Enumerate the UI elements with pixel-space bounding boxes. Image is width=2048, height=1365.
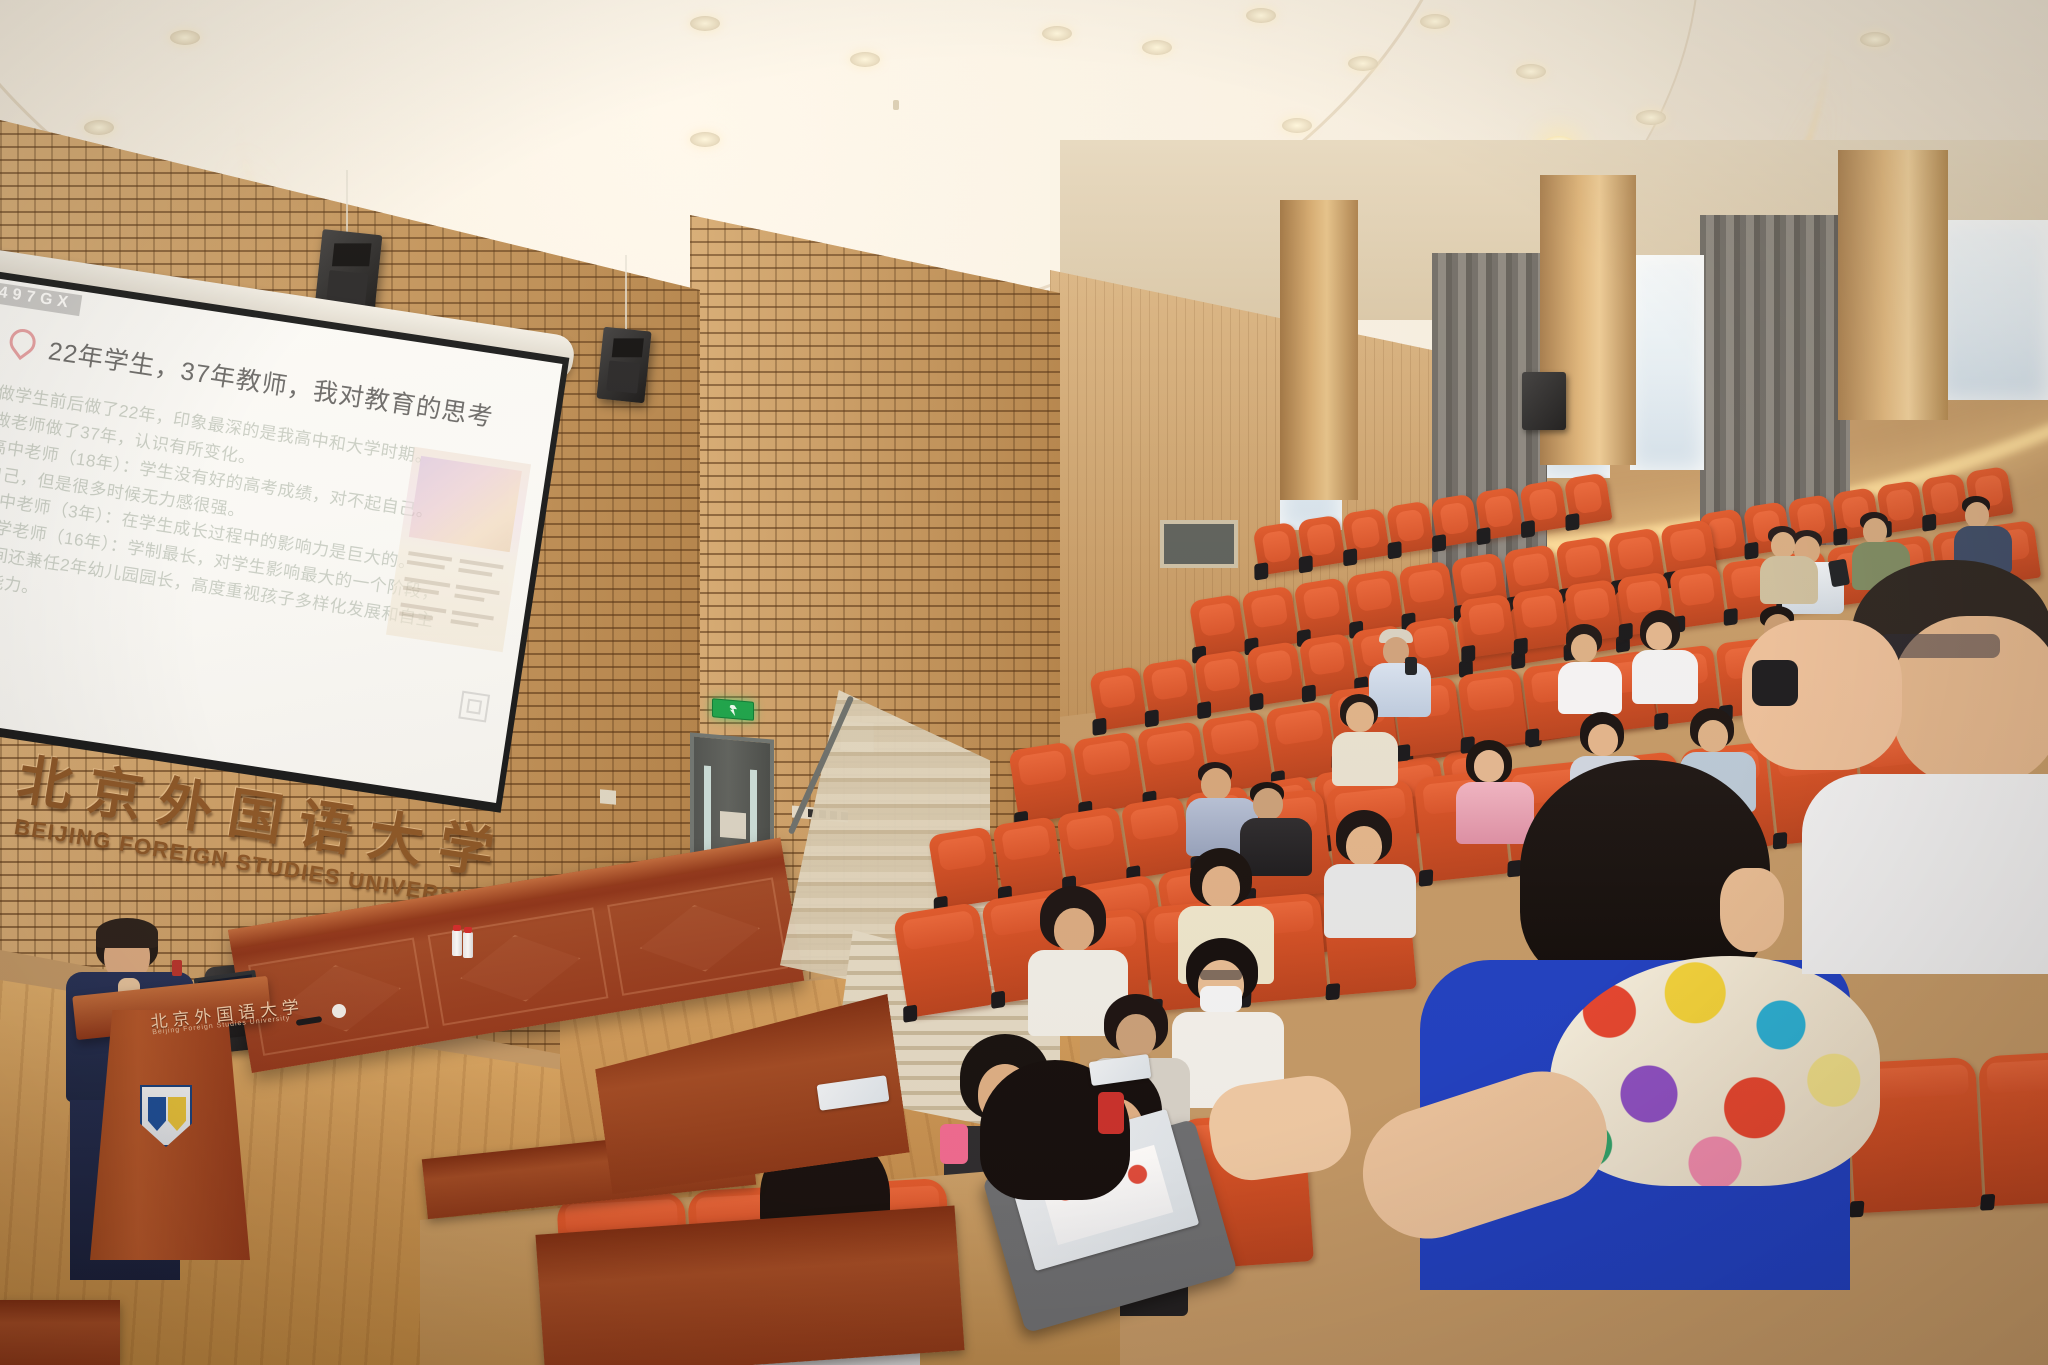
attendee-head	[1201, 768, 1231, 800]
seat[interactable]	[1978, 1050, 2048, 1206]
window	[1630, 255, 1704, 470]
red-cup[interactable]	[1098, 1092, 1124, 1134]
slide-watermark-icon	[458, 691, 490, 723]
seat[interactable]	[1341, 508, 1390, 562]
column	[1838, 150, 1948, 420]
seat[interactable]	[1194, 649, 1252, 714]
slide-photo	[409, 456, 522, 552]
seat[interactable]	[1459, 594, 1517, 658]
eyeglasses-icon	[1200, 970, 1242, 980]
location-pin-icon	[4, 324, 40, 360]
lecture-hall-photo: 497GX 22年学生，37年教师，我对教育的思考 做学生前后做了22年，印象最…	[0, 0, 2048, 1365]
downlight	[1516, 64, 1546, 79]
front-desk-lower	[535, 1206, 964, 1365]
seat[interactable]	[1246, 641, 1304, 706]
seat[interactable]	[1386, 501, 1435, 555]
speaker-cable	[625, 255, 627, 333]
seat[interactable]	[1297, 515, 1346, 569]
eyeglasses-icon	[1880, 634, 2000, 658]
exit-sign-icon	[712, 698, 754, 721]
seat[interactable]	[992, 816, 1065, 899]
downlight	[1246, 8, 1276, 23]
attendee-head	[1253, 788, 1283, 820]
seat[interactable]	[1511, 586, 1569, 650]
column	[1280, 200, 1358, 500]
downlight	[1282, 118, 1312, 133]
projection-screen: 497GX 22年学生，37年教师，我对教育的思考 做学生前后做了22年，印象最…	[0, 270, 569, 813]
downlight	[1348, 56, 1378, 71]
wall-speaker-right-icon	[1522, 372, 1566, 430]
seat[interactable]	[1298, 633, 1356, 698]
slide-body: 做学生前后做了22年，印象最深的是我高中和大学时期。 做老师做了37年，认识有所…	[0, 380, 415, 655]
desk-object	[332, 1004, 346, 1018]
downlight	[1860, 32, 1890, 47]
downlight	[690, 132, 720, 147]
speaker-cable	[346, 170, 348, 236]
attendee-torso	[1369, 663, 1431, 717]
head-table-panel	[607, 877, 788, 995]
seat[interactable]	[1137, 721, 1210, 804]
sprinkler-head	[893, 100, 899, 110]
attendee-torso	[1240, 818, 1312, 876]
seat[interactable]	[1430, 493, 1479, 547]
window	[1938, 220, 2048, 400]
seat[interactable]	[1252, 522, 1301, 576]
downlight	[1636, 110, 1666, 125]
water-bottle[interactable]	[463, 932, 473, 958]
downlight	[850, 52, 880, 67]
attendee-head	[1474, 750, 1504, 782]
downlight	[84, 120, 114, 135]
seat[interactable]	[1265, 701, 1338, 784]
stage-edge	[0, 1300, 120, 1365]
seat[interactable]	[1564, 472, 1613, 526]
seat[interactable]	[893, 902, 994, 1018]
seat[interactable]	[1141, 658, 1199, 723]
downlight	[1042, 26, 1072, 41]
seat[interactable]	[1089, 666, 1147, 731]
seat[interactable]	[1475, 486, 1524, 540]
wall-vent-panel	[1160, 520, 1238, 568]
pink-cup[interactable]	[940, 1124, 968, 1164]
wall-plate	[600, 789, 616, 804]
attendee-face	[1720, 868, 1784, 952]
wristwatch	[1752, 660, 1798, 706]
seat[interactable]	[928, 826, 1001, 909]
downlight	[690, 16, 720, 31]
presenter-hair-top	[96, 918, 158, 948]
seat[interactable]	[1669, 564, 1727, 628]
seat[interactable]	[1120, 796, 1193, 879]
seat[interactable]	[1457, 668, 1528, 749]
seat[interactable]	[1056, 806, 1129, 889]
attendee-phone[interactable]	[1405, 657, 1417, 675]
slide-corner-tag: 497GX	[0, 281, 82, 316]
downlight	[170, 30, 200, 45]
seat[interactable]	[1008, 741, 1081, 824]
downlight	[1142, 40, 1172, 55]
door-plate	[720, 811, 746, 839]
seat[interactable]	[1072, 731, 1145, 814]
seat[interactable]	[1519, 479, 1568, 533]
presenter-badge	[172, 960, 182, 976]
seat[interactable]	[1920, 473, 1969, 527]
water-bottle[interactable]	[452, 930, 462, 956]
attendee-torso	[1456, 782, 1534, 844]
attendee-shirt	[1802, 774, 2048, 974]
downlight	[1420, 14, 1450, 29]
wall-speaker-icon	[596, 327, 651, 404]
face-mask	[1200, 986, 1242, 1012]
